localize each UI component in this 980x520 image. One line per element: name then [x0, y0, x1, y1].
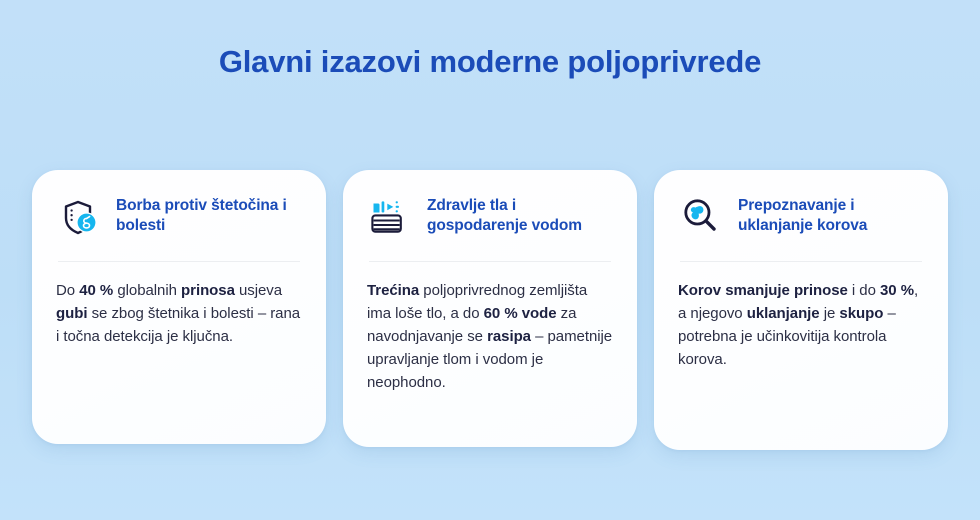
card-soil-water: Zdravlje tla i gospodarenje vodom Trećin…	[343, 170, 637, 447]
card-divider	[58, 261, 300, 262]
card-title: Borba protiv štetočina i bolesti	[116, 192, 302, 236]
card-title: Prepoznavanje i uklanjanje korova	[738, 192, 924, 236]
card-header: Zdravlje tla i gospodarenje vodom	[367, 192, 613, 242]
card-divider	[369, 261, 611, 262]
card-body: Trećina poljoprivrednog zemljišta ima lo…	[367, 279, 613, 394]
card-divider	[680, 261, 922, 262]
cards-row: Borba protiv štetočina i bolesti Do 40 %…	[32, 170, 948, 450]
card-pests-diseases: Borba protiv štetočina i bolesti Do 40 %…	[32, 170, 326, 444]
sprinkler-soil-icon	[367, 194, 413, 240]
page-title: Glavni izazovi moderne poljoprivrede	[0, 41, 980, 83]
card-title: Zdravlje tla i gospodarenje vodom	[427, 192, 613, 236]
card-body: Korov smanjuje prinose i do 30 %, a njeg…	[678, 279, 924, 371]
card-weed-detection: Prepoznavanje i uklanjanje korova Korov …	[654, 170, 948, 450]
card-header: Borba protiv štetočina i bolesti	[56, 192, 302, 242]
shield-pest-icon	[56, 194, 102, 240]
infographic-root: Glavni izazovi moderne poljoprivrede	[0, 0, 980, 520]
card-body: Do 40 % globalnih prinosa usjeva gubi se…	[56, 279, 302, 348]
magnifier-weed-icon	[678, 194, 724, 240]
card-header: Prepoznavanje i uklanjanje korova	[678, 192, 924, 242]
